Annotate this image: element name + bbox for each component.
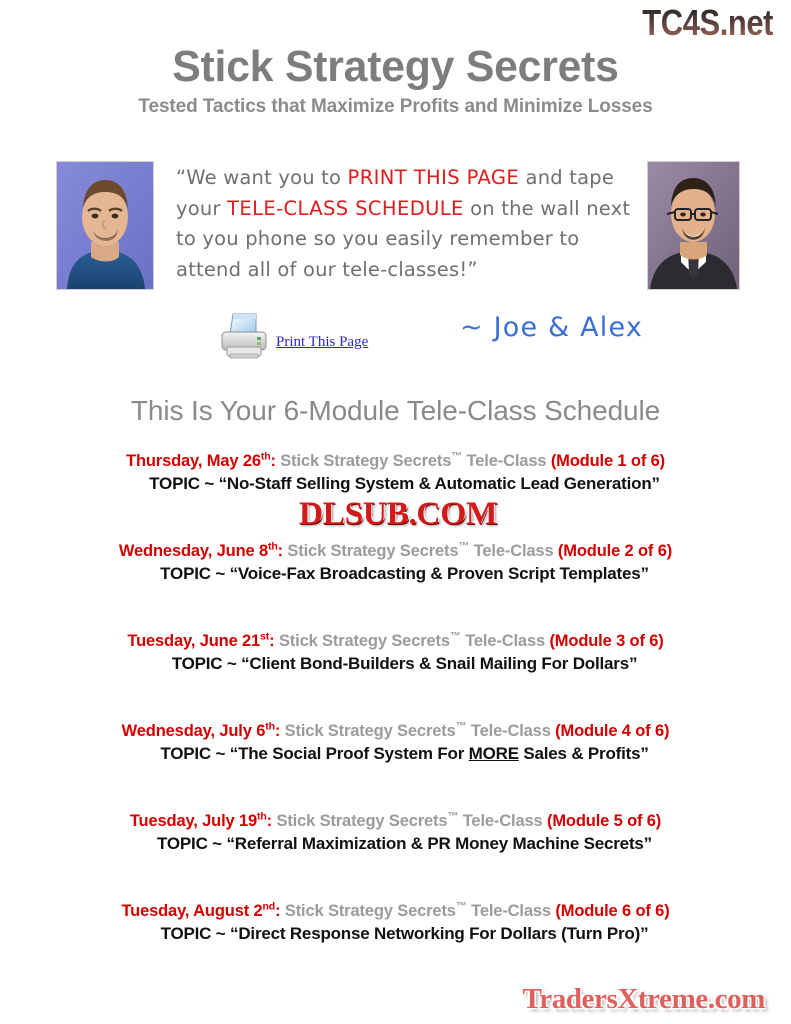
module-headline: Wednesday, July 6th: Stick Strategy Secr…	[0, 722, 791, 741]
module-date: Tuesday, June 21st:	[127, 632, 274, 650]
module-topic: TOPIC ~ “Referral Maximization & PR Mone…	[0, 834, 791, 854]
module-topic-emphasis: MORE	[469, 744, 519, 763]
module-tag: (Module 1 of 6)	[551, 452, 665, 470]
schedule-module-3: Tuesday, June 21st: Stick Strategy Secre…	[0, 632, 791, 722]
module-date: Tuesday, August 2nd:	[121, 902, 280, 920]
module-tag: (Module 4 of 6)	[555, 722, 669, 740]
module-headline: Tuesday, August 2nd: Stick Strategy Secr…	[0, 902, 791, 921]
module-headline: Wednesday, June 8th: Stick Strategy Secr…	[0, 542, 791, 561]
module-date: Wednesday, June 8th:	[119, 542, 283, 560]
quote-part-1: “We want you to	[176, 166, 348, 189]
quote-highlight-schedule: TELE-CLASS SCHEDULE	[227, 197, 464, 220]
module-topic: TOPIC ~ “The Social Proof System For MOR…	[0, 744, 791, 764]
module-topic: TOPIC ~ “No-Staff Selling System & Autom…	[0, 474, 791, 494]
schedule-module-5: Tuesday, July 19th: Stick Strategy Secre…	[0, 812, 791, 902]
schedule-module-6: Tuesday, August 2nd: Stick Strategy Secr…	[0, 902, 791, 992]
quote-highlight-print: PRINT THIS PAGE	[348, 166, 520, 189]
printer-icon[interactable]	[216, 310, 272, 360]
brand-logo: TC4S.net	[642, 2, 773, 44]
module-tag: (Module 5 of 6)	[547, 812, 661, 830]
module-topic: TOPIC ~ “Direct Response Networking For …	[0, 924, 791, 944]
quote-text: “We want you to PRINT THIS PAGE and tape…	[176, 163, 638, 285]
avatar-alex-graphic	[648, 162, 739, 289]
module-tag: (Module 6 of 6)	[555, 902, 669, 920]
watermark-dlsub: DLSUB.COM	[255, 494, 541, 534]
print-this-page-link[interactable]: Print This Page	[276, 334, 368, 351]
module-class-name: Stick Strategy Secrets™ Tele-Class	[285, 722, 556, 740]
module-tag: (Module 3 of 6)	[549, 632, 663, 650]
module-topic: TOPIC ~ “Client Bond-Builders & Snail Ma…	[0, 654, 791, 674]
module-topic: TOPIC ~ “Voice-Fax Broadcasting & Proven…	[0, 564, 791, 584]
module-class-name: Stick Strategy Secrets™ Tele-Class	[287, 542, 558, 560]
page-title: Stick Strategy Secrets	[12, 42, 779, 92]
module-date: Tuesday, July 19th:	[130, 812, 272, 830]
schedule-module-4: Wednesday, July 6th: Stick Strategy Secr…	[0, 722, 791, 812]
module-date: Thursday, May 26th:	[126, 452, 276, 470]
module-class-name: Stick Strategy Secrets™ Tele-Class	[279, 632, 550, 650]
module-date: Wednesday, July 6th:	[122, 722, 281, 740]
page-subtitle: Tested Tactics that Maximize Profits and…	[0, 96, 791, 118]
module-tag: (Module 2 of 6)	[558, 542, 672, 560]
avatar-joe-graphic	[57, 162, 153, 289]
module-class-name: Stick Strategy Secrets™ Tele-Class	[276, 812, 547, 830]
module-headline: Tuesday, June 21st: Stick Strategy Secre…	[0, 632, 791, 651]
module-headline: Tuesday, July 19th: Stick Strategy Secre…	[0, 812, 791, 831]
module-class-name: Stick Strategy Secrets™ Tele-Class	[285, 902, 556, 920]
schedule-module-2: Wednesday, June 8th: Stick Strategy Secr…	[0, 542, 791, 632]
footer-logo-tradersxtreme: TradersXtreme.com	[522, 983, 765, 1016]
module-class-name: Stick Strategy Secrets™ Tele-Class	[280, 452, 551, 470]
schedule-heading: This Is Your 6-Module Tele-Class Schedul…	[0, 395, 791, 427]
avatar-alex	[647, 161, 740, 290]
signature-joe-alex: ~ Joe & Alex	[460, 312, 643, 343]
avatar-joe	[56, 161, 154, 290]
print-page-row[interactable]: Print This Page	[216, 310, 368, 360]
module-headline: Thursday, May 26th: Stick Strategy Secre…	[0, 452, 791, 471]
